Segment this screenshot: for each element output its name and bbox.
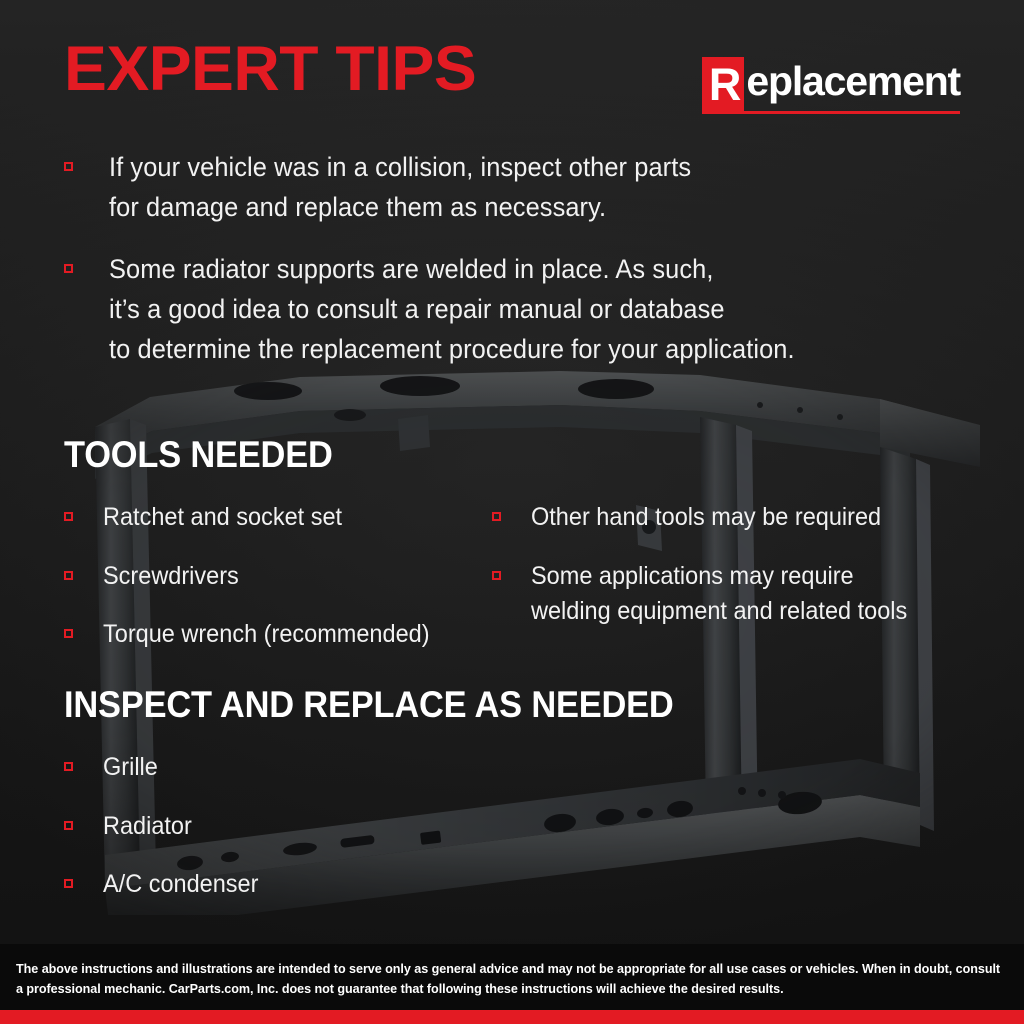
- header: EXPERT TIPS R eplacement: [0, 0, 1024, 130]
- page-title: EXPERT TIPS: [64, 38, 476, 101]
- intro-tip-text: Some radiator supports are welded in pla…: [109, 250, 795, 370]
- list-item: Radiator: [64, 809, 494, 845]
- square-bullet-icon: [64, 879, 73, 888]
- content-layer: EXPERT TIPS R eplacement If your vehicle…: [0, 0, 1024, 1024]
- tool-label: Screwdrivers: [103, 559, 239, 595]
- inspect-item-label: Grille: [103, 750, 158, 786]
- inspect-item-label: Radiator: [103, 809, 192, 845]
- square-bullet-icon: [64, 629, 73, 638]
- footer-accent-bar: [0, 1010, 1024, 1024]
- list-item: Other hand tools may be required: [492, 500, 972, 536]
- tools-list-left: Ratchet and socket set Screwdrivers Torq…: [64, 500, 494, 676]
- square-bullet-icon: [64, 512, 73, 521]
- logo-initial-badge: R: [702, 57, 745, 114]
- square-bullet-icon: [492, 571, 501, 580]
- square-bullet-icon: [64, 571, 73, 580]
- tool-label: Torque wrench (recommended): [103, 617, 430, 653]
- list-item: Grille: [64, 750, 494, 786]
- logo-wordmark-text: eplacement: [744, 61, 960, 102]
- square-bullet-icon: [492, 512, 501, 521]
- list-item: Ratchet and socket set: [64, 500, 494, 536]
- tool-label: Other hand tools may be required: [531, 500, 881, 536]
- replacement-logo: R eplacement: [702, 52, 960, 114]
- square-bullet-icon: [64, 821, 73, 830]
- footer-disclaimer-bar: The above instructions and illustrations…: [0, 944, 1024, 1024]
- expert-tips-infographic: EXPERT TIPS R eplacement If your vehicle…: [0, 0, 1024, 1024]
- square-bullet-icon: [64, 762, 73, 771]
- list-item: A/C condenser: [64, 867, 494, 903]
- square-bullet-icon: [64, 162, 73, 171]
- tool-label: Some applications may require welding eq…: [531, 559, 907, 630]
- intro-tip-text: If your vehicle was in a collision, insp…: [109, 148, 691, 228]
- list-item: Screwdrivers: [64, 559, 494, 595]
- intro-tips-list: If your vehicle was in a collision, insp…: [64, 148, 964, 392]
- list-item: Some radiator supports are welded in pla…: [64, 250, 964, 370]
- inspect-replace-heading: INSPECT AND REPLACE AS NEEDED: [64, 686, 674, 723]
- logo-wordmark: R eplacement: [702, 52, 960, 109]
- disclaimer-text: The above instructions and illustrations…: [16, 960, 1008, 999]
- inspect-item-label: A/C condenser: [103, 867, 258, 903]
- list-item: Some applications may require welding eq…: [492, 559, 972, 630]
- list-item: If your vehicle was in a collision, insp…: [64, 148, 964, 228]
- tool-label: Ratchet and socket set: [103, 500, 342, 536]
- tools-list-right: Other hand tools may be required Some ap…: [492, 500, 972, 653]
- tools-needed-heading: TOOLS NEEDED: [64, 436, 333, 473]
- list-item: Torque wrench (recommended): [64, 617, 494, 653]
- inspect-items-list: Grille Radiator A/C condenser: [64, 750, 494, 926]
- square-bullet-icon: [64, 264, 73, 273]
